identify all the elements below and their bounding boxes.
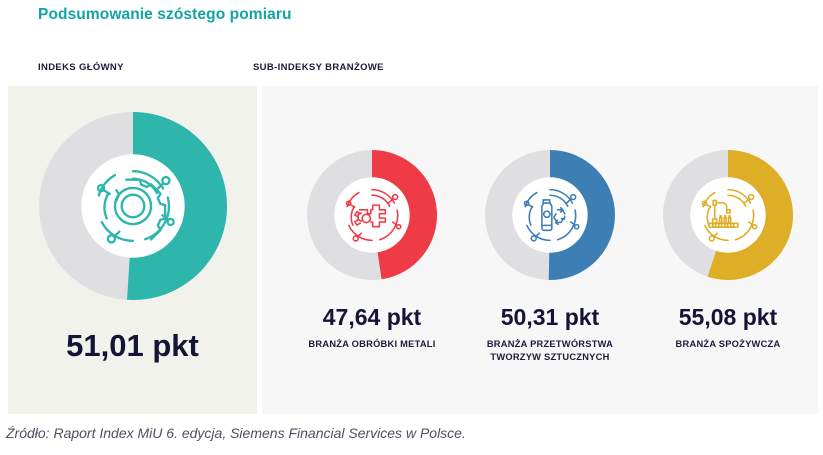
- sub-donut-chart-plastics: [485, 150, 615, 280]
- sub-donut-chart-metal: [307, 150, 437, 280]
- sub-donut-chart-food: [663, 150, 793, 280]
- sub-index-block-plastics: 50,31 pkt BRANŻA PRZETWÓRSTWA TWORZYW SZ…: [460, 150, 640, 363]
- sub-donut-svg-plastics: [485, 150, 615, 280]
- main-donut-svg: [39, 112, 227, 300]
- sub-index-value-food: 55,08 pkt: [679, 306, 777, 329]
- sub-donut-svg-metal: [307, 150, 437, 280]
- sub-donut-svg-food: [663, 150, 793, 280]
- sub-index-label-metal: BRANŻA OBRÓBKI METALI: [308, 338, 435, 351]
- sub-index-label-plastics: BRANŻA PRZETWÓRSTWA TWORZYW SZTUCZNYCH: [487, 338, 613, 363]
- page-title: Podsumowanie szóstego pomiaru: [38, 6, 292, 24]
- sub-index-value-metal: 47,64 pkt: [323, 306, 421, 329]
- sub-index-label-food: BRANŻA SPOŻYWCZA: [676, 338, 781, 351]
- sub-index-block-metal: 47,64 pkt BRANŻA OBRÓBKI METALI: [282, 150, 462, 351]
- main-index-value: 51,01 pkt: [66, 330, 199, 361]
- sub-index-block-food: 55,08 pkt BRANŻA SPOŻYWCZA: [638, 150, 818, 351]
- sub-index-value-plastics: 50,31 pkt: [501, 306, 599, 329]
- source-note: Źródło: Raport Index MiU 6. edycja, Siem…: [6, 425, 466, 441]
- column-header-sub-indexes: SUB-INDEKSY BRANŻOWE: [253, 62, 384, 73]
- main-index-donut-block: 51,01 pkt: [8, 112, 257, 361]
- column-header-main-index: INDEKS GŁÓWNY: [38, 62, 124, 73]
- main-donut-chart: [39, 112, 227, 300]
